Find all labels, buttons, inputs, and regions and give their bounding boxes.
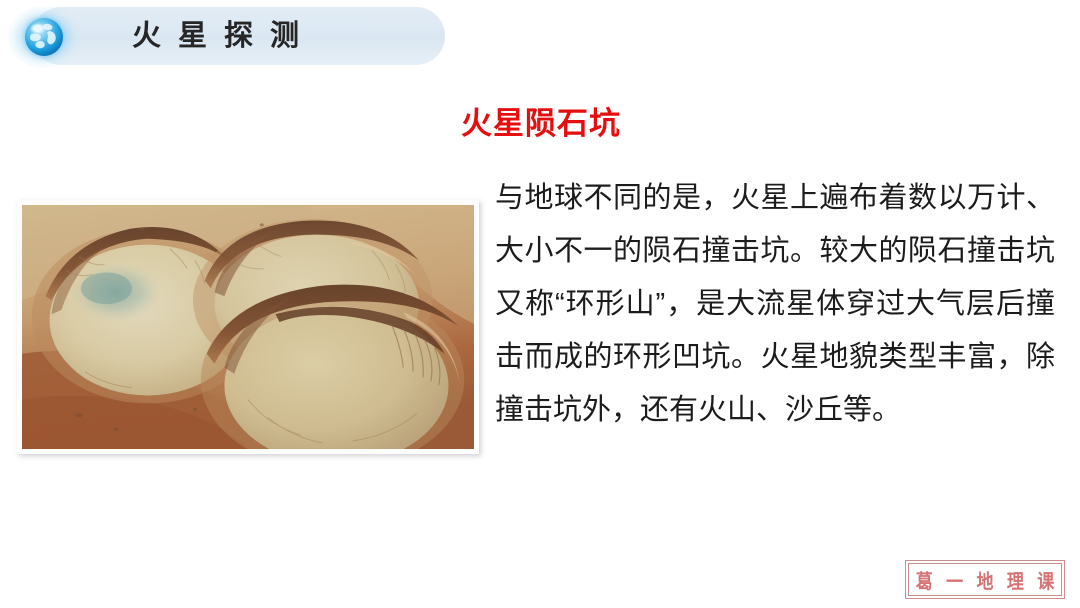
globe-svg <box>19 12 69 62</box>
seal-glyph: 理 <box>1007 565 1024 594</box>
section-title: 火星陨石坑 <box>461 104 621 144</box>
seal-glyph: 一 <box>946 565 963 594</box>
page-title: 火星探测 <box>132 18 316 54</box>
slide-root: 火星探测 <box>0 0 1080 608</box>
mars-crater-photo <box>22 205 474 449</box>
body-paragraph: 与地球不同的是，火星上遍布着数以万计、大小不一的陨石撞击坑。较大的陨石撞击坑又称… <box>495 172 1055 437</box>
mars-crater-photo-frame <box>17 200 479 454</box>
seal-glyph: 地 <box>976 565 993 594</box>
seal-glyph: 葛 <box>916 565 933 594</box>
slide-header: 火星探测 <box>22 7 445 65</box>
earth-globe-icon <box>8 6 80 68</box>
seal-inner-border: 葛 一 地 理 课 <box>908 563 1062 596</box>
seal-watermark: 葛 一 地 理 课 <box>905 560 1065 599</box>
mars-crater-illustration <box>22 205 474 449</box>
seal-glyph: 课 <box>1037 565 1054 594</box>
